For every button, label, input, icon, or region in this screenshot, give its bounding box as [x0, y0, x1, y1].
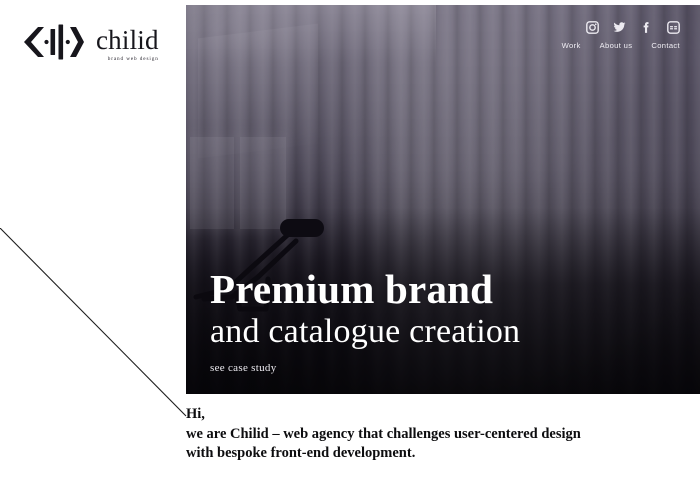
nav-item-about-us[interactable]: About us — [600, 41, 633, 50]
instagram-icon[interactable] — [586, 21, 599, 34]
brand-text-block: chilid brand web design — [96, 26, 159, 63]
intro-line-3: with bespoke front-end development. — [186, 444, 686, 464]
hero-headline-line-1: Premium brand — [210, 266, 520, 312]
hero-top-bar: Work About us Contact — [562, 21, 680, 50]
hero-copy-block: Premium brand and catalogue creation see… — [210, 266, 520, 376]
intro-paragraph: Hi, we are Chilid – web agency that chal… — [186, 405, 686, 464]
main-nav: Work About us Contact — [562, 41, 680, 50]
see-case-study-link[interactable]: see case study — [210, 362, 277, 375]
chilid-logomark-icon — [22, 24, 86, 60]
intro-line-1: Hi, — [186, 405, 686, 425]
nav-item-work[interactable]: Work — [562, 41, 581, 50]
hero-banner: Work About us Contact Premium brand and … — [186, 5, 700, 394]
nav-item-contact[interactable]: Contact — [651, 41, 680, 50]
intro-line-2: we are Chilid – web agency that challeng… — [186, 425, 686, 445]
behance-icon[interactable] — [667, 21, 680, 34]
diagonal-leader-line — [0, 228, 196, 424]
page-canvas: chilid brand web design — [0, 0, 700, 500]
twitter-icon[interactable] — [613, 21, 626, 34]
brand-tagline: brand web design — [108, 55, 159, 63]
facebook-icon[interactable] — [640, 21, 653, 34]
social-links — [586, 21, 680, 34]
hero-headline-line-2: and catalogue creation — [210, 312, 520, 352]
brand-logo[interactable]: chilid brand web design — [22, 24, 159, 63]
brand-wordmark: chilid — [96, 26, 159, 54]
